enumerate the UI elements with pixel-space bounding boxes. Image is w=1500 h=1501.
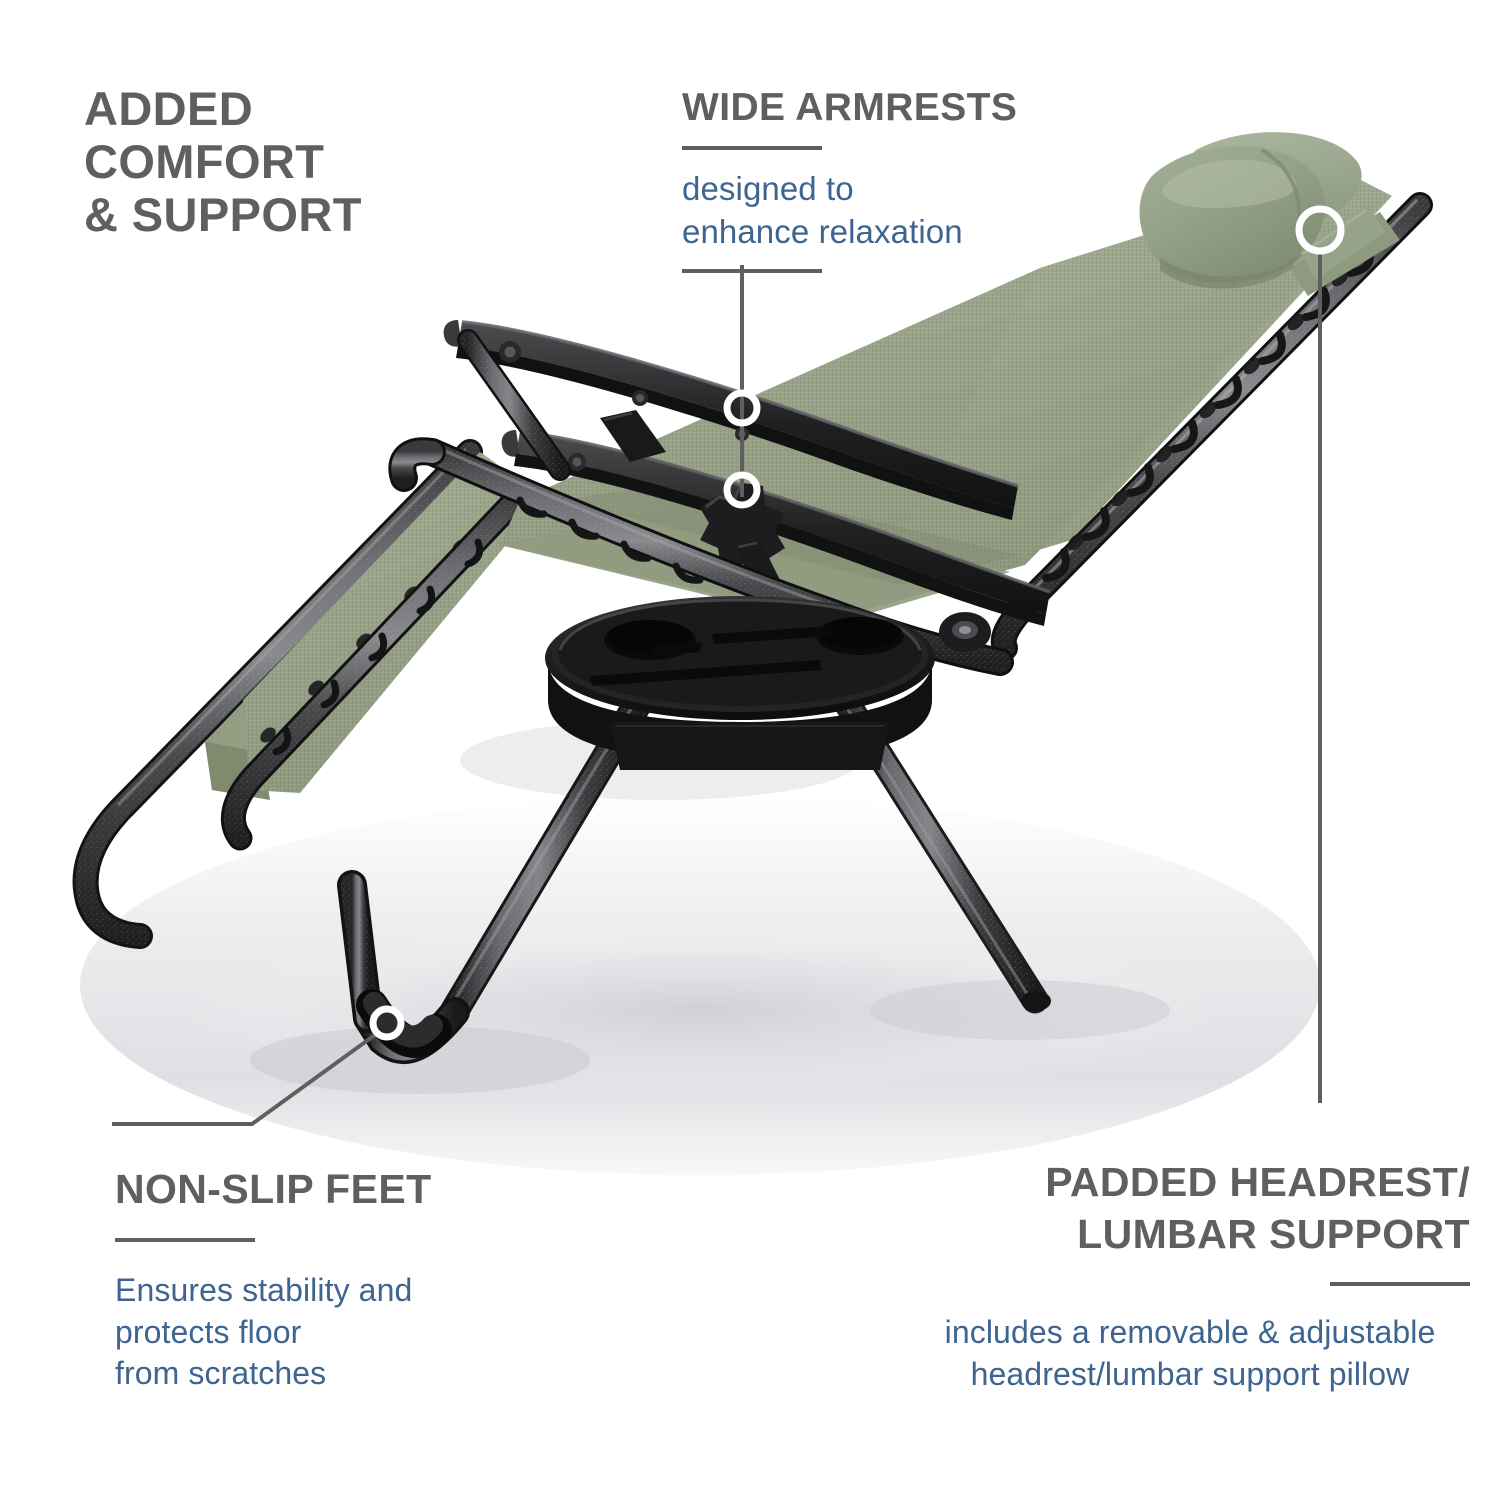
callout-padded-headrest-title: PADDED HEADREST/ LUMBAR SUPPORT [910, 1157, 1470, 1260]
callout-padded-headrest-rule [1330, 1282, 1470, 1286]
infographic-page: ADDED COMFORT & SUPPORT WIDE ARMRESTS de… [0, 0, 1500, 1501]
callout-wide-armrests-body: designed to enhance relaxation [682, 168, 1082, 254]
callout-added-comfort-title: ADDED COMFORT & SUPPORT [84, 82, 504, 241]
callout-nonslip-feet-body: Ensures stability and protects floor fro… [115, 1270, 535, 1395]
callout-padded-headrest-body: includes a removable & adjustable headre… [910, 1312, 1470, 1395]
callout-added-comfort: ADDED COMFORT & SUPPORT [84, 82, 504, 241]
tray-mount-clamp [939, 612, 991, 652]
callout-nonslip-feet: NON-SLIP FEET Ensures stability and prot… [115, 1167, 535, 1395]
callout-wide-armrests-rule-top [682, 146, 822, 150]
callout-padded-headrest: PADDED HEADREST/ LUMBAR SUPPORT includes… [910, 1157, 1470, 1396]
callout-wide-armrests-rule-bottom [682, 269, 822, 273]
callout-nonslip-feet-title: NON-SLIP FEET [115, 1167, 535, 1213]
callout-wide-armrests: WIDE ARMRESTS designed to enhance relaxa… [682, 86, 1082, 273]
side-tray [545, 596, 935, 770]
callout-nonslip-feet-rule [115, 1238, 255, 1242]
callout-wide-armrests-title: WIDE ARMRESTS [682, 86, 1082, 130]
